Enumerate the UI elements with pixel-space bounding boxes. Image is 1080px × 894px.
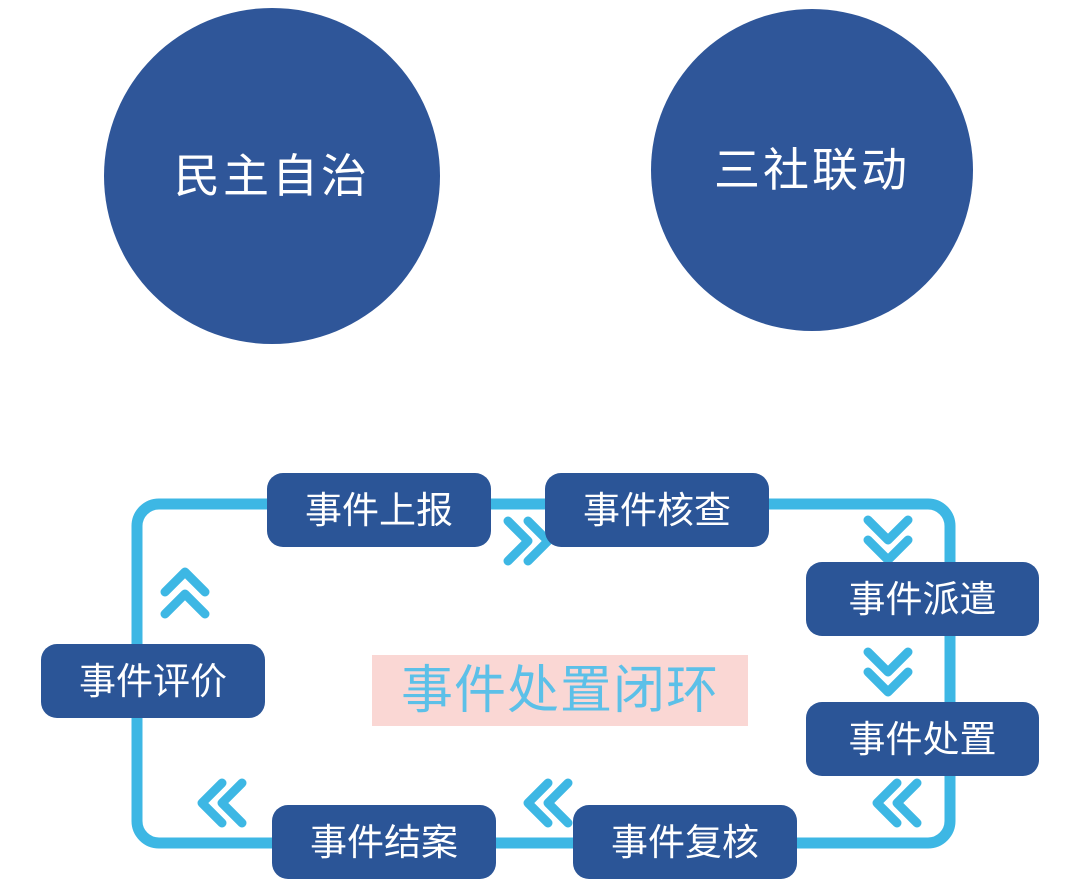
node-event-dispatch-label: 事件派遣	[849, 581, 997, 618]
circle-three-social-linkage-label: 三社联动	[714, 147, 910, 193]
node-event-verification-label: 事件核查	[583, 492, 731, 529]
cycle-center-title: 事件处置闭环	[372, 655, 748, 726]
node-event-report-label: 事件上报	[305, 492, 453, 529]
node-event-review[interactable]: 事件复核	[573, 805, 797, 879]
double-chevron-left-icon	[528, 783, 568, 823]
node-event-case-closure[interactable]: 事件结案	[272, 805, 496, 879]
circle-democracy-label: 民主自治	[174, 153, 370, 199]
circle-democracy: 民主自治	[104, 8, 440, 344]
node-event-verification[interactable]: 事件核查	[545, 473, 769, 547]
node-event-review-label: 事件复核	[611, 824, 759, 861]
node-event-evaluation-label: 事件评价	[79, 663, 227, 700]
double-chevron-right-icon	[508, 521, 548, 561]
diagram-canvas: 民主自治 三社联动	[0, 0, 1080, 894]
double-chevron-down-icon	[868, 652, 908, 692]
node-event-evaluation[interactable]: 事件评价	[41, 644, 265, 718]
double-chevron-up-icon	[165, 572, 205, 614]
node-event-handling-label: 事件处置	[849, 721, 997, 758]
circle-three-social-linkage: 三社联动	[651, 9, 973, 331]
double-chevron-left-icon	[877, 783, 917, 823]
node-event-dispatch[interactable]: 事件派遣	[806, 562, 1039, 636]
node-event-report[interactable]: 事件上报	[267, 473, 491, 547]
node-event-handling[interactable]: 事件处置	[806, 702, 1039, 776]
node-event-case-closure-label: 事件结案	[310, 824, 458, 861]
double-chevron-down-icon	[868, 520, 908, 560]
cycle-center-title-label: 事件处置闭环	[401, 665, 719, 717]
double-chevron-left-icon	[202, 783, 242, 823]
